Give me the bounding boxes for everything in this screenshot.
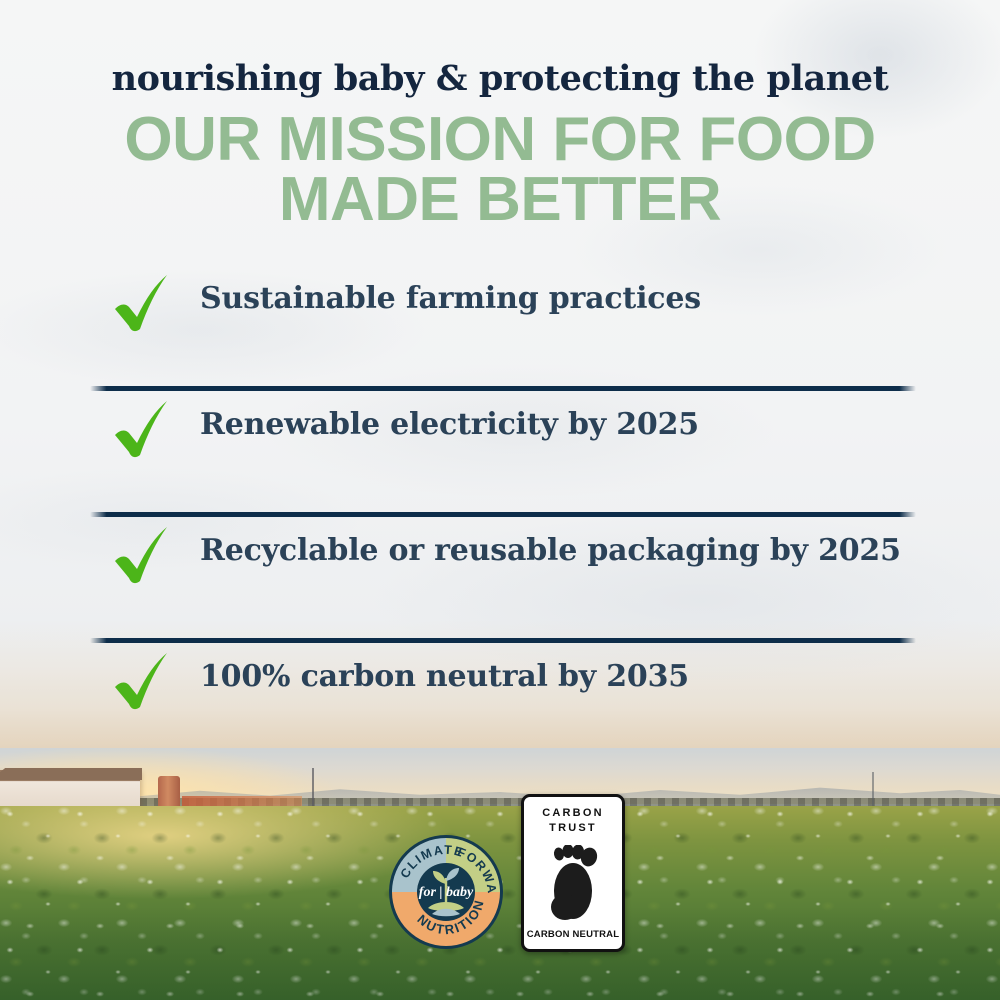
mission-infographic: nourishing baby & protecting the planet … bbox=[0, 0, 1000, 1000]
list-item-label: Sustainable farming practices bbox=[200, 281, 701, 316]
check-icon bbox=[108, 523, 174, 589]
carbon-trust-line2: TRUST bbox=[524, 821, 622, 836]
farm-roof bbox=[0, 768, 142, 780]
list-item: Recyclable or reusable packaging by 2025 bbox=[90, 517, 916, 643]
page-title-line2: MADE BETTER bbox=[0, 170, 1000, 230]
check-icon bbox=[108, 397, 174, 463]
list-item-label: Recyclable or reusable packaging by 2025 bbox=[200, 533, 901, 568]
check-icon bbox=[108, 649, 174, 715]
list-item: Sustainable farming practices bbox=[90, 265, 916, 391]
list-item-label: 100% carbon neutral by 2035 bbox=[200, 659, 689, 694]
carbon-trust-footer: CARBON NEUTRAL bbox=[524, 929, 622, 940]
page-title-line1: OUR MISSION FOR FOOD bbox=[124, 105, 875, 174]
climate-forward-nutrition-badge: for | baby CLIMATE FORWARD NUTRITION bbox=[388, 834, 504, 950]
commitments-list: Sustainable farming practices Renewable … bbox=[90, 265, 916, 769]
carbon-trust-title: CARBON TRUST bbox=[524, 806, 622, 836]
list-item-label: Renewable electricity by 2025 bbox=[200, 407, 699, 442]
page-title: OUR MISSION FOR FOOD MADE BETTER bbox=[0, 110, 1000, 230]
carbon-trust-line1: CARBON bbox=[524, 806, 622, 821]
list-item: 100% carbon neutral by 2035 bbox=[90, 643, 916, 769]
badge-center-text: for | baby bbox=[419, 885, 474, 900]
check-icon bbox=[108, 271, 174, 337]
carbon-trust-badge: CARBON TRUST CARBON NEUTRAL bbox=[521, 794, 625, 952]
footprint-icon bbox=[543, 845, 603, 921]
list-item: Renewable electricity by 2025 bbox=[90, 391, 916, 517]
page-kicker: nourishing baby & protecting the planet bbox=[0, 58, 1000, 99]
